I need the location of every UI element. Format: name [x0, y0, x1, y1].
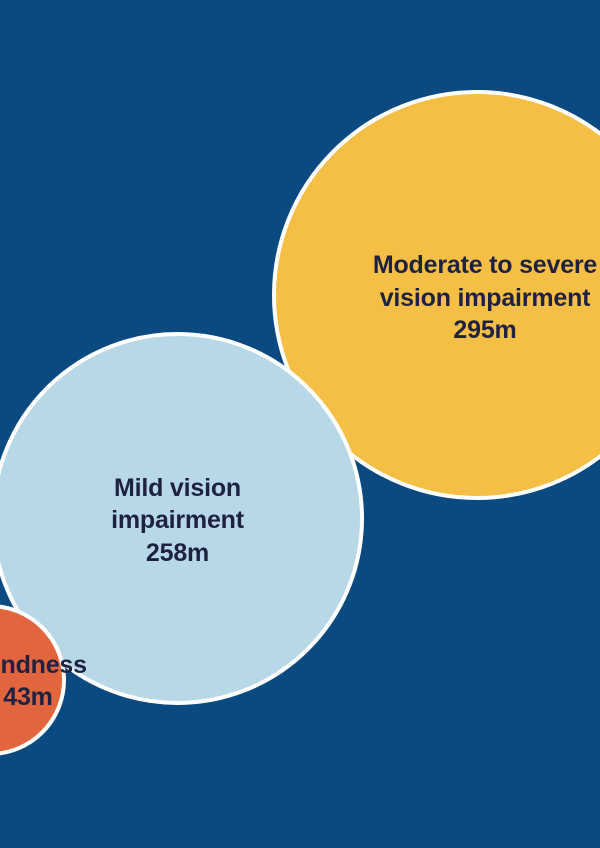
- bubble-moderate-severe-value: 295m: [373, 314, 597, 347]
- bubble-mild-label: Mild vision impairment 258m: [111, 472, 244, 570]
- bubble-blindness-value: 43m: [0, 681, 87, 714]
- bubble-blindness-line1: Blindness: [0, 649, 87, 682]
- bubble-chart: Moderate to severe vision impairment 295…: [0, 0, 600, 848]
- bubble-moderate-severe-line1: Moderate to severe: [373, 249, 597, 282]
- bubble-moderate-severe-line2: vision impairment: [373, 282, 597, 315]
- bubble-mild-line2: impairment: [111, 504, 244, 537]
- bubble-mild-line1: Mild vision: [111, 472, 244, 505]
- bubble-blindness-label: Blindness 43m: [0, 649, 87, 714]
- bubble-mild-value: 258m: [111, 537, 244, 570]
- bubble-moderate-severe-label: Moderate to severe vision impairment 295…: [373, 249, 597, 347]
